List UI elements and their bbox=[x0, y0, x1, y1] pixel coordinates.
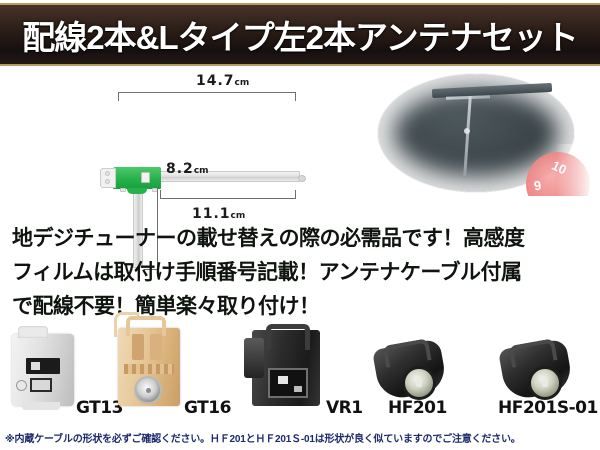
description-line-2: フィルムは取付け手順番号記載！アンテナケーブル付属 bbox=[12, 256, 590, 290]
product-description: 地デジチューナーの載せ替えの際の必需品です！高感度 フィルムは取付け手順番号記載… bbox=[12, 222, 590, 324]
connector-image-hf201s-01 bbox=[498, 340, 574, 406]
installed-example-photo: 10 9 ※画像は一部例になります bbox=[340, 66, 600, 196]
seal-number-9: 9 bbox=[533, 178, 542, 194]
connector-image-vr1 bbox=[252, 330, 320, 406]
antenna-dimension-diagram: 14.7cm 11.1cm 8.2 bbox=[0, 70, 330, 220]
dimension-label-top-width: 14.7cm bbox=[196, 70, 249, 89]
connector-label-hf201s-01: HF201S-01 bbox=[498, 398, 598, 418]
installed-antenna-node bbox=[464, 128, 470, 134]
connector-image-gt16 bbox=[118, 328, 180, 406]
description-line-3: で配線不要！簡単楽々取り付け！ bbox=[12, 290, 590, 324]
connector-image-hf201 bbox=[372, 340, 448, 406]
header-banner: 配線2本&Lタイプ左2本アンテナセット bbox=[0, 3, 600, 66]
antenna-film-mount-dot-left bbox=[120, 188, 126, 192]
footer-caution-note: ※内蔵ケーブルの形状を必ずご確認ください。ＨＦ201とＨＦ201Ｓ-01は形状が… bbox=[5, 430, 597, 445]
connector-image-gt13 bbox=[12, 334, 74, 406]
connector-label-gt13: GT13 bbox=[76, 398, 123, 418]
banner-title: 配線2本&Lタイプ左2本アンテナセット bbox=[22, 11, 577, 59]
photo-fade-overlay bbox=[556, 144, 600, 196]
connector-label-hf201: HF201 bbox=[388, 398, 447, 418]
photo-caption: ※画像は一部例になります bbox=[340, 194, 600, 196]
antenna-film-end-tab bbox=[100, 168, 116, 188]
antenna-film-chip bbox=[141, 172, 150, 183]
connector-label-gt16: GT16 bbox=[184, 398, 231, 418]
connector-type-gallery: GT13 GT16 VR1 HF201 HF201S-01 bbox=[0, 330, 600, 420]
connector-label-vr1: VR1 bbox=[326, 398, 363, 418]
description-line-1: 地デジチューナーの載せ替えの際の必需品です！高感度 bbox=[12, 222, 590, 256]
product-banner-page: 配線2本&Lタイプ左2本アンテナセット 14.7cm 11.1cm bbox=[0, 0, 600, 450]
antenna-film-green-pad bbox=[113, 167, 161, 189]
dimension-label-inner-width: 11.1cm bbox=[192, 203, 245, 222]
dimension-label-leg-height: 8.2cm bbox=[166, 158, 209, 177]
